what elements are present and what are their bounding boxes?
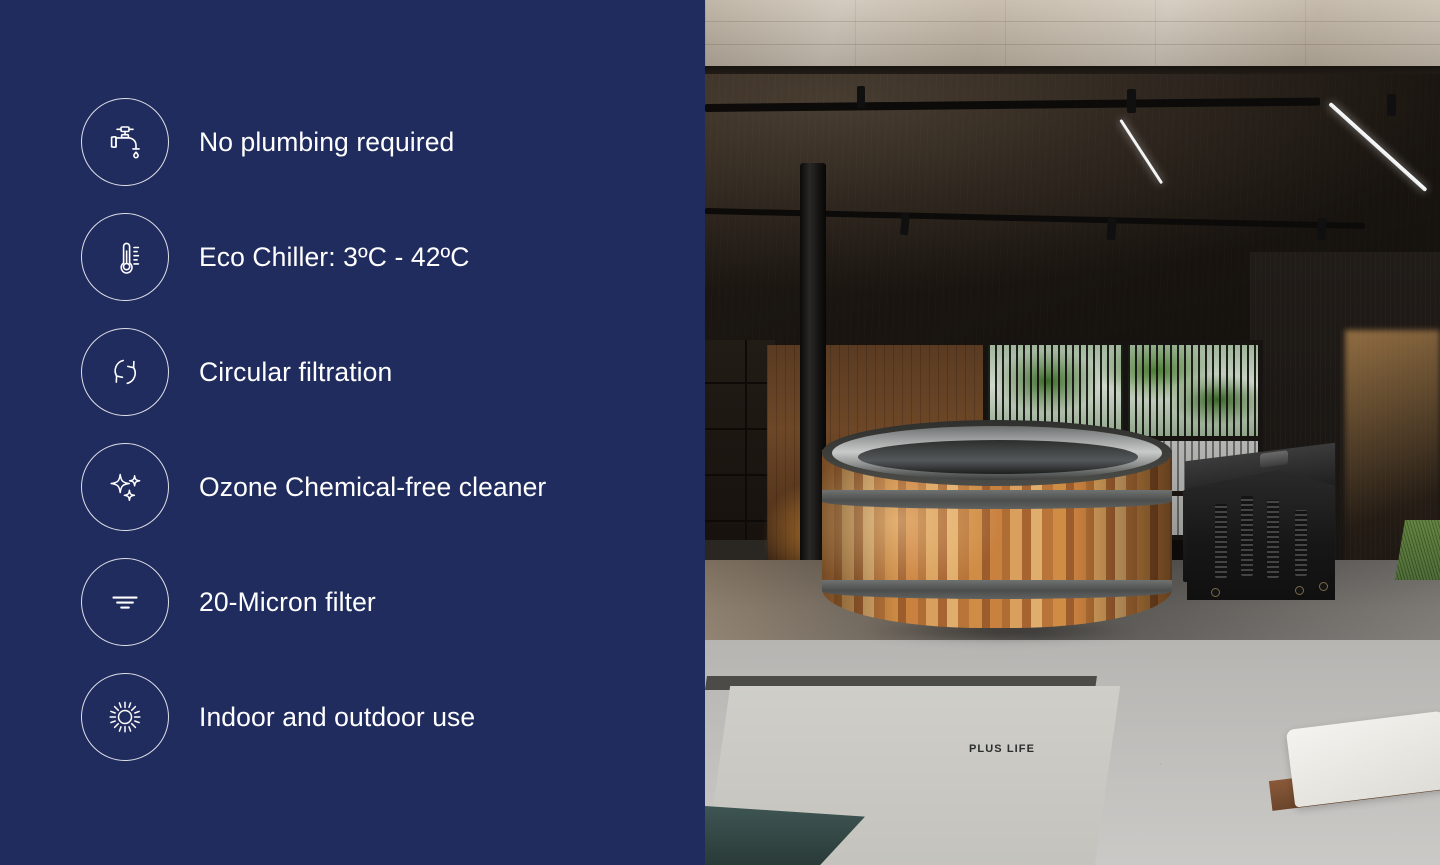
feature-label: Ozone Chemical-free cleaner	[199, 472, 546, 503]
feature-label: No plumbing required	[199, 127, 454, 158]
faucet-icon	[81, 98, 169, 186]
chiller-vent	[1241, 496, 1253, 576]
product-photo: PLUS LIFE	[705, 0, 1440, 865]
feature-label: Eco Chiller: 3ºC - 42ºC	[199, 242, 470, 273]
cedar-ice-bath-tub: PLUS LIFE	[822, 420, 1172, 640]
feature-label: Circular filtration	[199, 357, 392, 388]
feature-item-ozone-cleaner: Ozone Chemical-free cleaner	[81, 443, 546, 531]
light-wood-ceiling	[705, 0, 1440, 68]
feature-panel-with-product-photo: No plumbing required Eco Chiller: 3ºC - …	[0, 0, 1440, 865]
feature-list: No plumbing required Eco Chiller: 3ºC - …	[81, 98, 546, 761]
shelf-line	[705, 382, 773, 384]
tub-steel-band	[822, 490, 1172, 509]
caster-wheel	[1319, 582, 1328, 591]
caster-wheel	[1295, 586, 1304, 595]
track-spotlight	[1316, 218, 1327, 241]
tub-steel-liner	[832, 426, 1162, 480]
shelf-line	[705, 428, 773, 430]
filter-icon	[81, 558, 169, 646]
chiller-vent	[1295, 510, 1307, 576]
sparkles-icon	[81, 443, 169, 531]
feature-label: 20-Micron filter	[199, 587, 376, 618]
tub-steel-band: PLUS LIFE	[822, 580, 1172, 599]
chiller-vent	[1267, 500, 1279, 578]
shelf-divider	[745, 340, 747, 540]
track-spotlight	[1127, 89, 1136, 113]
thermometer-icon	[81, 213, 169, 301]
refresh-icon	[81, 328, 169, 416]
feature-item-indoor-outdoor: Indoor and outdoor use	[81, 673, 546, 761]
chiller-vent	[1215, 504, 1227, 578]
feature-item-circular-filtration: Circular filtration	[81, 328, 546, 416]
chiller-unit	[1187, 470, 1335, 600]
shelf-line	[705, 520, 773, 522]
feature-item-eco-chiller: Eco Chiller: 3ºC - 42ºC	[81, 213, 546, 301]
shelf-line	[705, 474, 773, 476]
feature-label: Indoor and outdoor use	[199, 702, 475, 733]
caster-wheel	[1211, 588, 1220, 597]
sun-icon	[81, 673, 169, 761]
feature-item-no-plumbing: No plumbing required	[81, 98, 546, 186]
track-spotlight	[857, 86, 865, 108]
track-spotlight	[1106, 218, 1117, 241]
feature-item-micron-filter: 20-Micron filter	[81, 558, 546, 646]
track-spotlight	[1387, 94, 1396, 116]
tub-brand-label: PLUS LIFE	[947, 743, 1057, 755]
feature-panel: No plumbing required Eco Chiller: 3ºC - …	[0, 0, 705, 865]
